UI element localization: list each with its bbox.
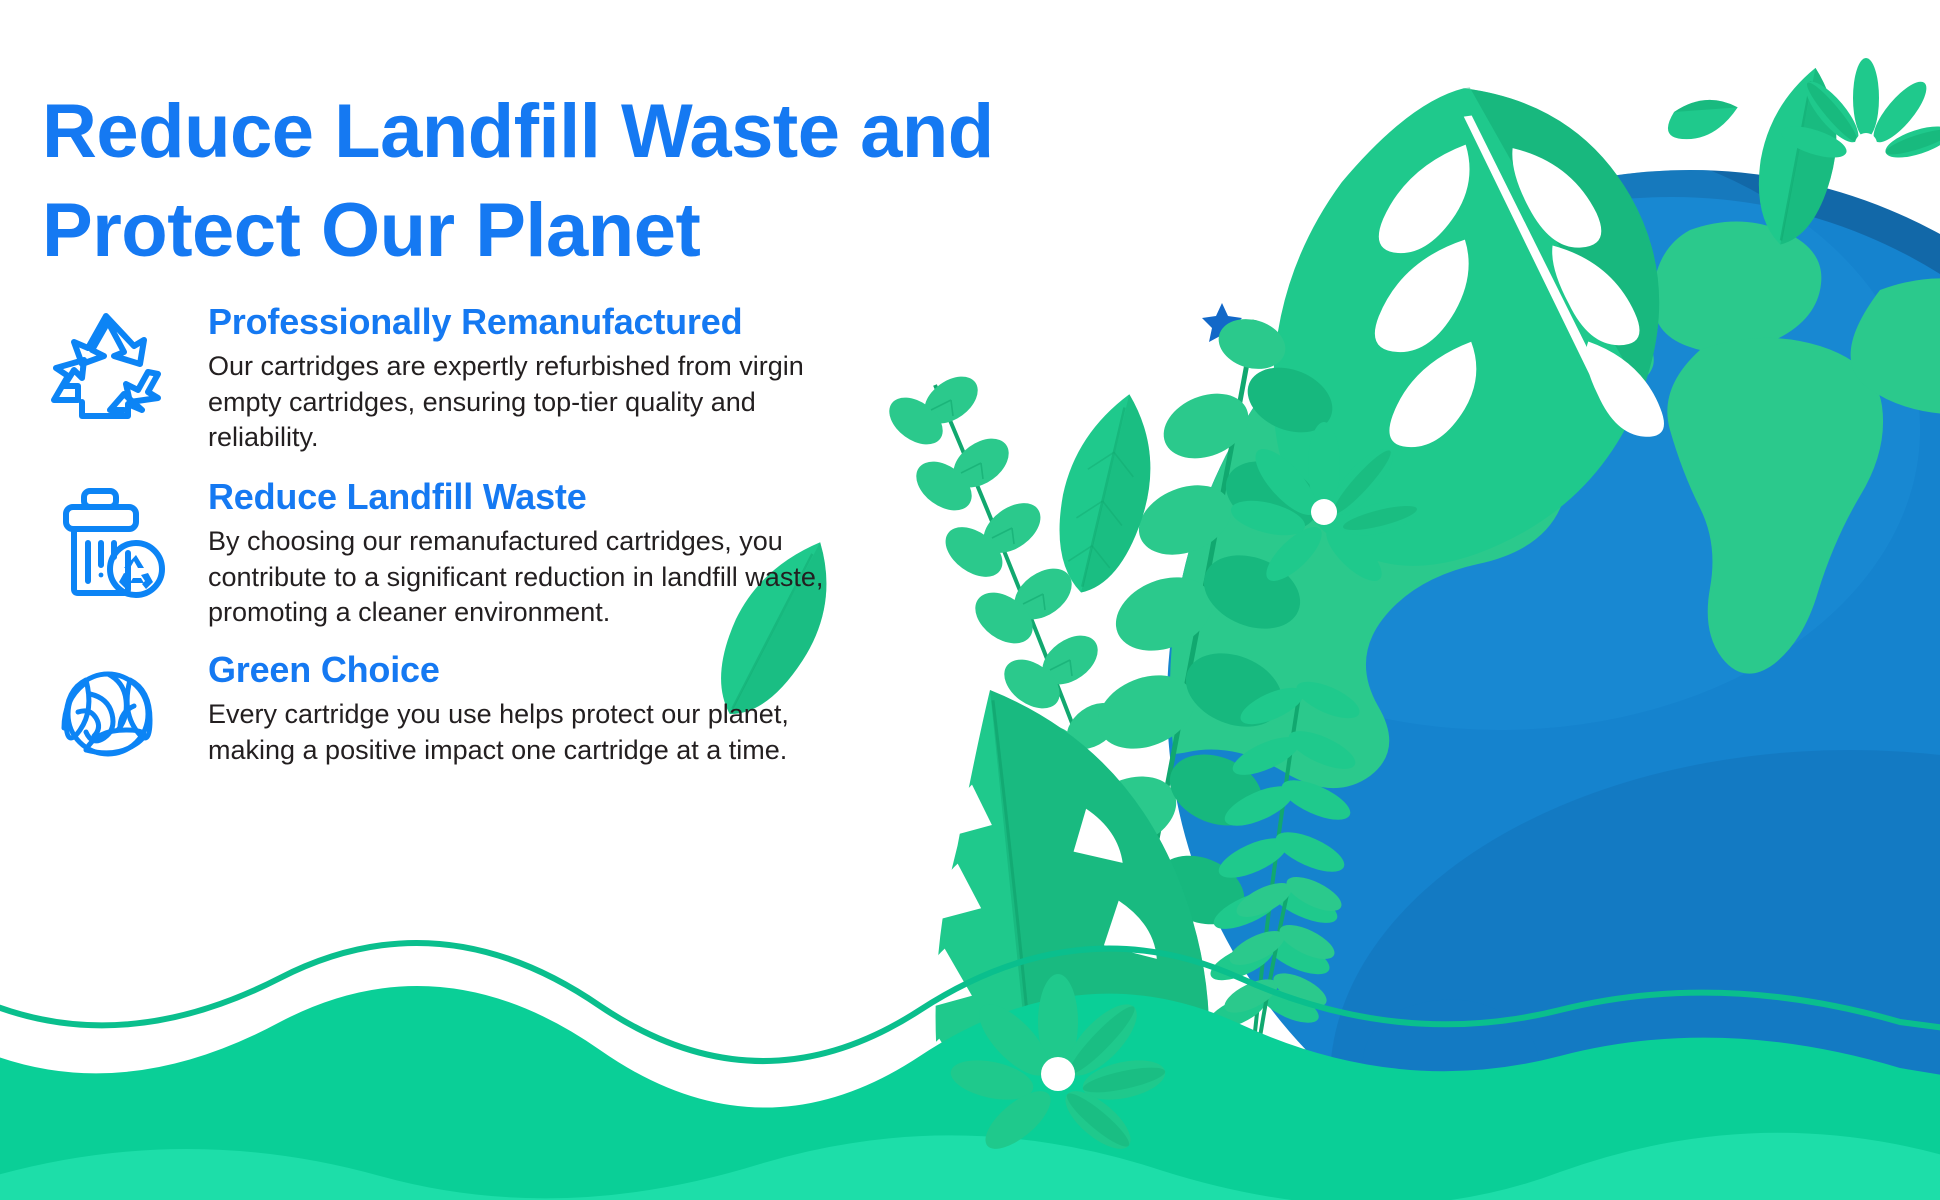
floating-leaf-small — [1663, 82, 1737, 157]
globe-leaves-icon — [48, 654, 176, 782]
feature-title: Reduce Landfill Waste — [208, 475, 868, 518]
floating-leaf-medium — [1747, 61, 1850, 251]
earth-globe-illustration — [1080, 130, 1940, 1200]
feature-title: Green Choice — [208, 648, 868, 691]
page-title: Reduce Landfill Waste and Protect Our Pl… — [42, 83, 1162, 281]
infographic-canvas: Reduce Landfill Waste and Protect Our Pl… — [0, 0, 1940, 1200]
feature-title: Professionally Remanufactured — [208, 300, 868, 343]
leaf-cluster-topright — [1778, 58, 1940, 164]
palm-frond — [1204, 674, 1365, 1080]
feature-text: Reduce Landfill Waste By choosing our re… — [208, 475, 868, 631]
feature-body: Our cartridges are expertly refurbished … — [208, 349, 868, 456]
feature-text: Professionally Remanufactured Our cartri… — [208, 300, 868, 456]
floating-leaf-large — [1044, 385, 1168, 602]
star-accent — [1202, 303, 1242, 342]
recycle-arrows-icon — [48, 306, 176, 434]
trash-bin-recycle-icon — [48, 481, 176, 609]
feature-body: By choosing our remanufactured cartridge… — [208, 524, 868, 631]
text-content-column: Reduce Landfill Waste and Protect Our Pl… — [0, 0, 1000, 1200]
leaf-rosette-right — [1227, 422, 1420, 589]
monstera-leaf — [1232, 65, 1693, 583]
feature-body: Every cartridge you use helps protect ou… — [208, 697, 868, 768]
round-leaf-stem — [1061, 312, 1342, 1040]
palm-frond-right — [1220, 870, 1347, 1130]
feature-text: Green Choice Every cartridge you use hel… — [208, 648, 868, 768]
